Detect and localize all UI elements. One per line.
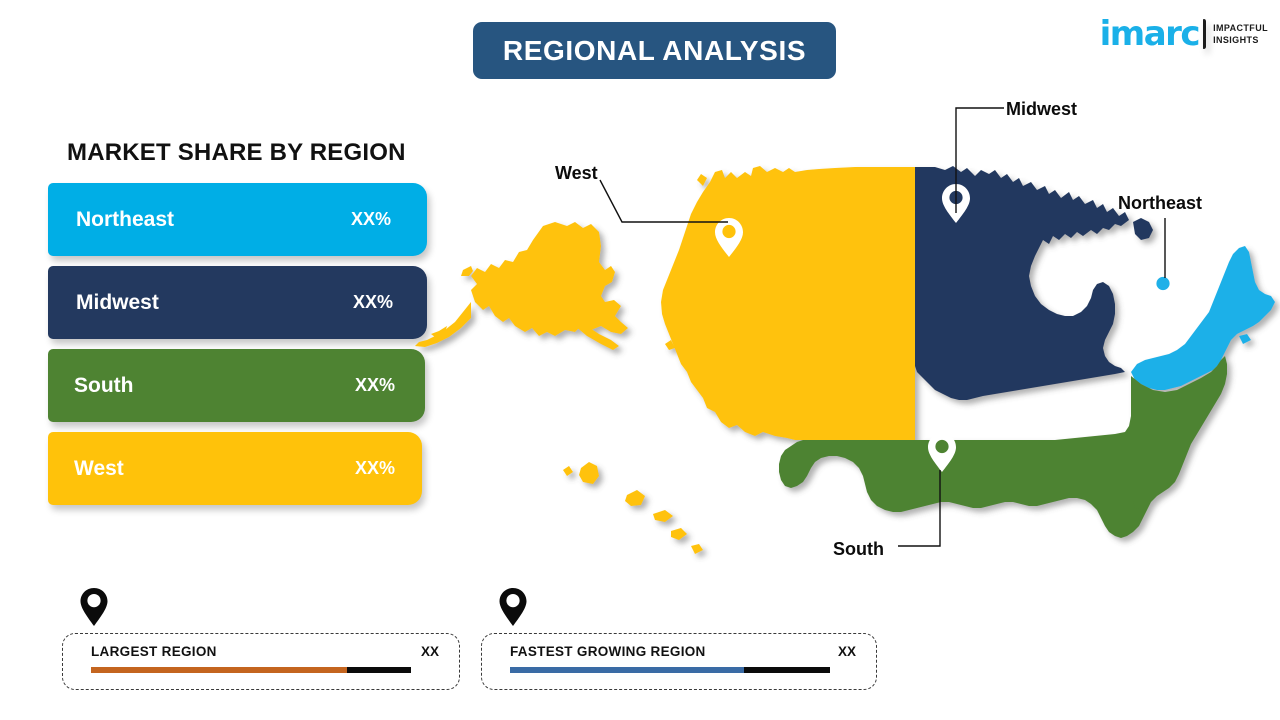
bar-value-west: XX% [355,458,395,479]
leader-line-northeast [1161,218,1173,280]
stat-value-largest-region: XX [421,644,439,659]
page-title: REGIONAL ANALYSIS [503,35,806,67]
market-share-heading: MARKET SHARE BY REGION [67,139,406,167]
stat-row-fastest-growing-region: FASTEST GROWING REGION XX [510,644,856,659]
market-share-bar-west[interactable]: West XX% [48,432,422,505]
map-label-midwest: Midwest [1006,99,1077,120]
bar-value-northeast: XX% [351,209,391,230]
imarc-logo: imarc IMPACTFUL INSIGHTS [1100,12,1268,56]
logo-tagline-line1: IMPACTFUL [1213,22,1268,34]
bar-label-south: South [74,374,133,398]
stat-progress-fill-largest-region [91,667,347,673]
market-share-bar-midwest[interactable]: Midwest XX% [48,266,427,339]
slide-canvas: REGIONAL ANALYSIS imarc IMPACTFUL INSIGH… [0,0,1280,720]
stat-progress-track-largest-region [91,667,411,673]
stat-row-largest-region: LARGEST REGION XX [91,644,439,659]
bar-label-west: West [74,457,124,481]
market-share-bar-northeast[interactable]: Northeast XX% [48,183,427,256]
bar-label-midwest: Midwest [76,291,159,315]
stat-label-fastest-growing-region: FASTEST GROWING REGION [510,644,706,659]
stat-value-fastest-growing-region: XX [838,644,856,659]
map-region-alaska [415,222,628,350]
stat-progress-track-fastest-growing-region [510,667,830,673]
leader-line-midwest [952,108,1012,218]
logo-tagline-line2: INSIGHTS [1213,34,1268,46]
logo-divider [1203,19,1206,49]
stat-progress-fill-fastest-growing-region [510,667,744,673]
bar-value-south: XX% [355,375,395,396]
market-share-bar-south[interactable]: South XX% [48,349,425,422]
map-label-northeast: Northeast [1118,193,1202,214]
map-label-south: South [833,539,884,560]
leader-line-west [600,180,735,240]
leader-line-south [898,470,960,552]
map-pin-icon-largest-region [79,587,109,627]
market-share-bar-list: Northeast XX% Midwest XX% South XX% West… [48,183,448,515]
map-pin-icon-fastest-growing-region [498,587,528,627]
map-region-northeast [1131,246,1275,390]
stat-card-fastest-growing-region[interactable]: FASTEST GROWING REGION XX [481,633,877,690]
map-region-hawaii [563,462,703,554]
stat-label-largest-region: LARGEST REGION [91,644,217,659]
bar-label-northeast: Northeast [76,208,174,232]
page-title-banner: REGIONAL ANALYSIS [473,22,836,79]
stat-card-largest-region[interactable]: LARGEST REGION XX [62,633,460,690]
map-label-west: West [555,163,598,184]
bar-value-midwest: XX% [353,292,393,313]
logo-tagline: IMPACTFUL INSIGHTS [1213,22,1268,46]
logo-wordmark: imarc [1100,17,1199,51]
